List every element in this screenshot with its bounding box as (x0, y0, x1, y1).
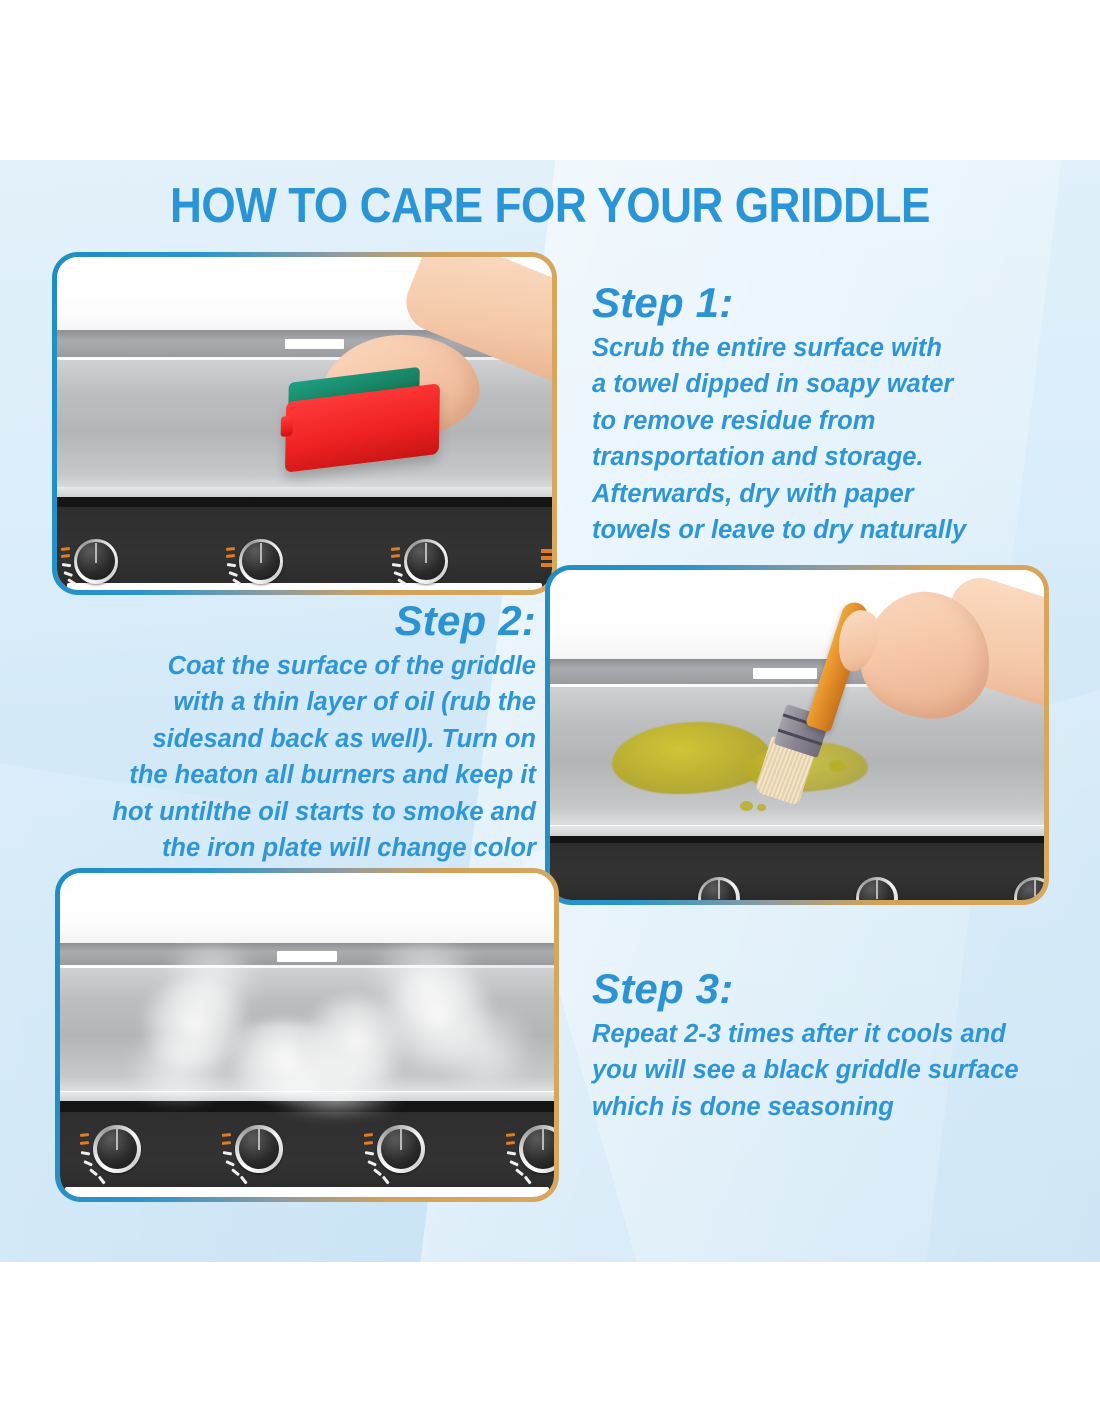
infographic-page: HOW TO CARE FOR YOUR GRIDDLE (0, 0, 1100, 1422)
griddle-label-sticker (753, 668, 817, 679)
burner-knob[interactable] (684, 873, 746, 900)
burner-knob[interactable] (389, 535, 455, 590)
step-2-heading: Step 2: (74, 600, 536, 642)
burner-knob[interactable] (78, 1121, 148, 1191)
step-3-body: Repeat 2-3 times after it cools and you … (592, 1016, 1070, 1125)
step-1-heading: Step 1: (592, 282, 1032, 324)
burner-knob[interactable] (504, 1121, 554, 1191)
smoke-wisp (156, 945, 266, 1013)
oil-droplet (757, 804, 766, 811)
step-3-text-block: Step 3: Repeat 2-3 times after it cools … (592, 968, 1070, 1125)
step-1-text-block: Step 1: Scrub the entire surface with a … (592, 282, 1032, 549)
burner-knob[interactable] (220, 1121, 290, 1191)
burner-knob[interactable] (362, 1121, 432, 1191)
oil-droplet (740, 801, 753, 811)
step-2-body: Coat the surface of the griddle with a t… (74, 648, 536, 867)
burner-knob[interactable] (59, 535, 125, 590)
smoke-wisp (430, 1013, 540, 1085)
photo-step-3 (55, 868, 559, 1202)
step-2-text-block: Step 2: Coat the surface of the griddle … (74, 600, 536, 867)
burner-knob-partial[interactable] (541, 549, 552, 567)
oil-droplet (829, 760, 845, 772)
step-1-body: Scrub the entire surface with a towel di… (592, 330, 1032, 549)
griddle-label-sticker (285, 339, 344, 350)
photo-step-2 (545, 565, 1049, 905)
smoke-wisp (250, 1059, 420, 1111)
burner-knob[interactable] (1000, 873, 1044, 900)
smoke-wisp (118, 1039, 238, 1099)
page-title: HOW TO CARE FOR YOUR GRIDDLE (55, 178, 1045, 234)
burner-knob[interactable] (224, 535, 290, 590)
step-3-heading: Step 3: (592, 968, 1070, 1010)
smoke-wisp (360, 941, 490, 1019)
photo-step-1 (52, 252, 557, 595)
burner-knob[interactable] (842, 873, 904, 900)
griddle-label-sticker (277, 951, 336, 962)
